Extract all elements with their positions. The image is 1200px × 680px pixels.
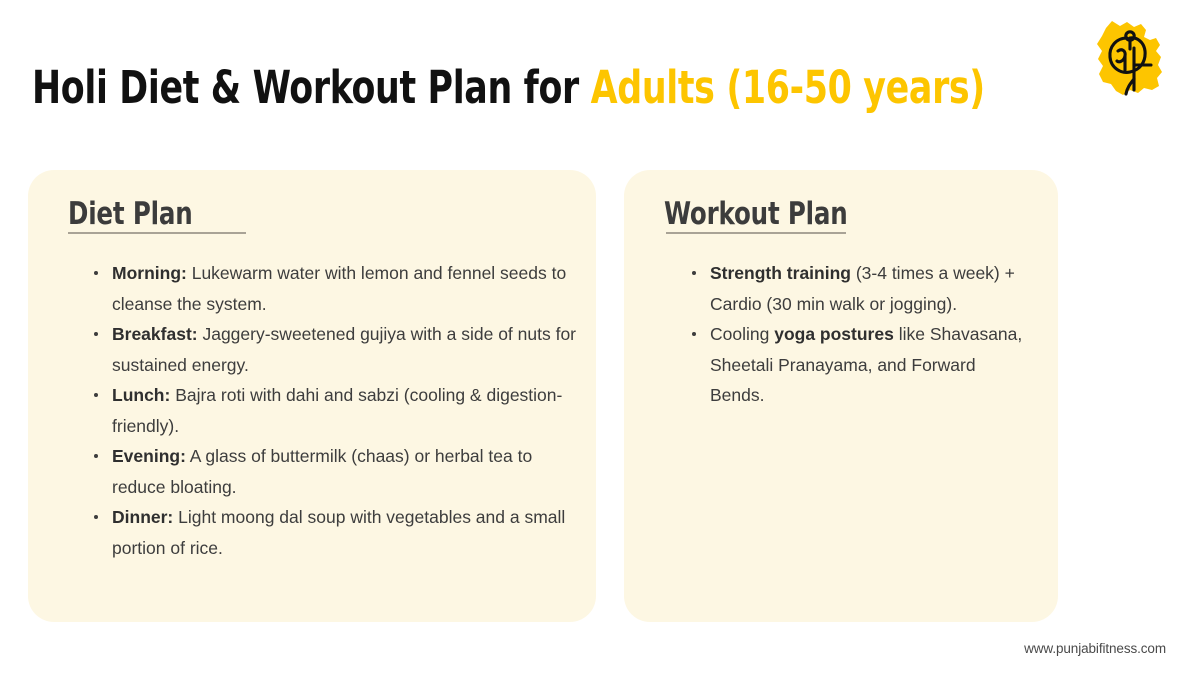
- list-item-label: Breakfast:: [112, 324, 198, 344]
- diet-plan-list: Morning: Lukewarm water with lemon and f…: [90, 258, 580, 563]
- workout-plan-list: Strength training (3-4 times a week) + C…: [688, 258, 1034, 411]
- punjab-map-logo-icon: [1094, 18, 1166, 102]
- card-diet-heading: Diet Plan: [68, 196, 193, 232]
- list-item-label: Lunch:: [112, 385, 170, 405]
- card-diet-plan: Diet Plan Morning: Lukewarm water with l…: [28, 170, 596, 622]
- page-title-plain: Holi Diet & Workout Plan for: [32, 61, 591, 114]
- list-item-text: Cooling yoga postures like Shavasana, Sh…: [710, 324, 1022, 405]
- header: Holi Diet & Workout Plan for Adults (16-…: [32, 58, 1042, 116]
- footer-website-url: www.punjabifitness.com: [1024, 641, 1166, 656]
- list-item: Evening: A glass of buttermilk (chaas) o…: [90, 441, 580, 502]
- page-title: Holi Diet & Workout Plan for Adults (16-…: [32, 65, 985, 110]
- list-item: Cooling yoga postures like Shavasana, Sh…: [688, 319, 1034, 411]
- page-title-accent: Adults (16-50 years): [591, 61, 985, 114]
- card-workout-divider: [666, 232, 846, 234]
- list-item-text: Bajra roti with dahi and sabzi (cooling …: [112, 385, 562, 436]
- list-item: Breakfast: Jaggery-sweetened gujiya with…: [90, 319, 580, 380]
- list-item-label: Evening:: [112, 446, 186, 466]
- list-item: Dinner: Light moong dal soup with vegeta…: [90, 502, 580, 563]
- card-workout-heading: Workout Plan: [664, 196, 848, 232]
- slide-canvas: Holi Diet & Workout Plan for Adults (16-…: [0, 0, 1200, 680]
- list-item: Morning: Lukewarm water with lemon and f…: [90, 258, 580, 319]
- list-item: Lunch: Bajra roti with dahi and sabzi (c…: [90, 380, 580, 441]
- card-diet-divider: [68, 232, 246, 234]
- card-workout-plan: Workout Plan Strength training (3-4 time…: [624, 170, 1058, 622]
- list-item-text: Light moong dal soup with vegetables and…: [112, 507, 565, 558]
- list-item-label: Morning:: [112, 263, 187, 283]
- list-item: Strength training (3-4 times a week) + C…: [688, 258, 1034, 319]
- list-item-label: Dinner:: [112, 507, 173, 527]
- list-item-label: Strength training: [710, 263, 851, 283]
